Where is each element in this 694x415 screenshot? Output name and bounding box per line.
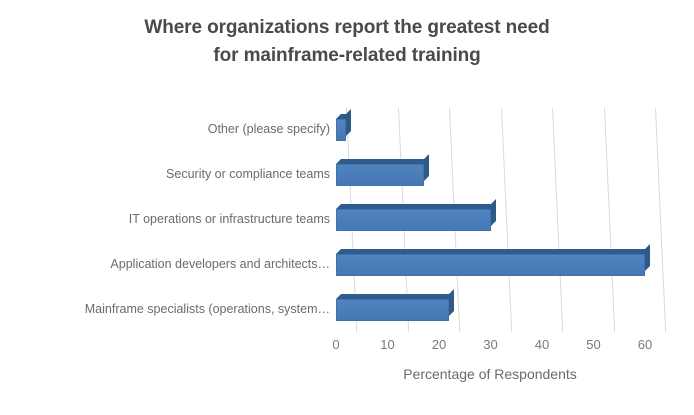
value-axis-ticks: 0102030405060 <box>0 338 694 358</box>
x-tick-label: 20 <box>432 338 446 351</box>
category-label: Security or compliance teams <box>0 168 330 181</box>
chart-container: Where organizations report the greatest … <box>0 0 694 415</box>
bar-side-face <box>645 244 650 271</box>
bar <box>336 209 491 231</box>
category-axis: Mainframe specialists (operations, syste… <box>0 108 330 332</box>
gridline-40 <box>552 108 563 332</box>
category-label: Application developers and architects… <box>0 258 330 271</box>
bar <box>336 164 424 186</box>
chart-title-line-2: for mainframe-related training <box>0 42 694 70</box>
bar-front-face <box>336 164 424 186</box>
x-axis-title: Percentage of Respondents <box>280 366 694 382</box>
bar <box>336 299 449 321</box>
x-tick-label: 10 <box>380 338 394 351</box>
bar-front-face <box>336 209 491 231</box>
bar-side-face <box>491 199 496 226</box>
category-label: IT operations or infrastructure teams <box>0 213 330 226</box>
x-tick-label: 0 <box>332 338 339 351</box>
x-tick-label: 60 <box>638 338 652 351</box>
bar <box>336 119 346 141</box>
bar-side-face <box>449 289 454 316</box>
gridline-50 <box>604 108 615 332</box>
bar-front-face <box>336 254 645 276</box>
chart-title-line-1: Where organizations report the greatest … <box>0 14 694 42</box>
chart-title: Where organizations report the greatest … <box>0 14 694 69</box>
gridline-30 <box>501 108 512 332</box>
gridline-60 <box>655 108 666 332</box>
x-tick-label: 50 <box>586 338 600 351</box>
bar <box>336 254 645 276</box>
category-label: Mainframe specialists (operations, syste… <box>0 303 330 316</box>
bar-side-face <box>346 109 351 136</box>
bar-front-face <box>336 119 346 141</box>
x-tick-label: 30 <box>483 338 497 351</box>
bar-side-face <box>424 154 429 181</box>
x-tick-label: 40 <box>535 338 549 351</box>
category-label: Other (please specify) <box>0 123 330 136</box>
bar-front-face <box>336 299 449 321</box>
